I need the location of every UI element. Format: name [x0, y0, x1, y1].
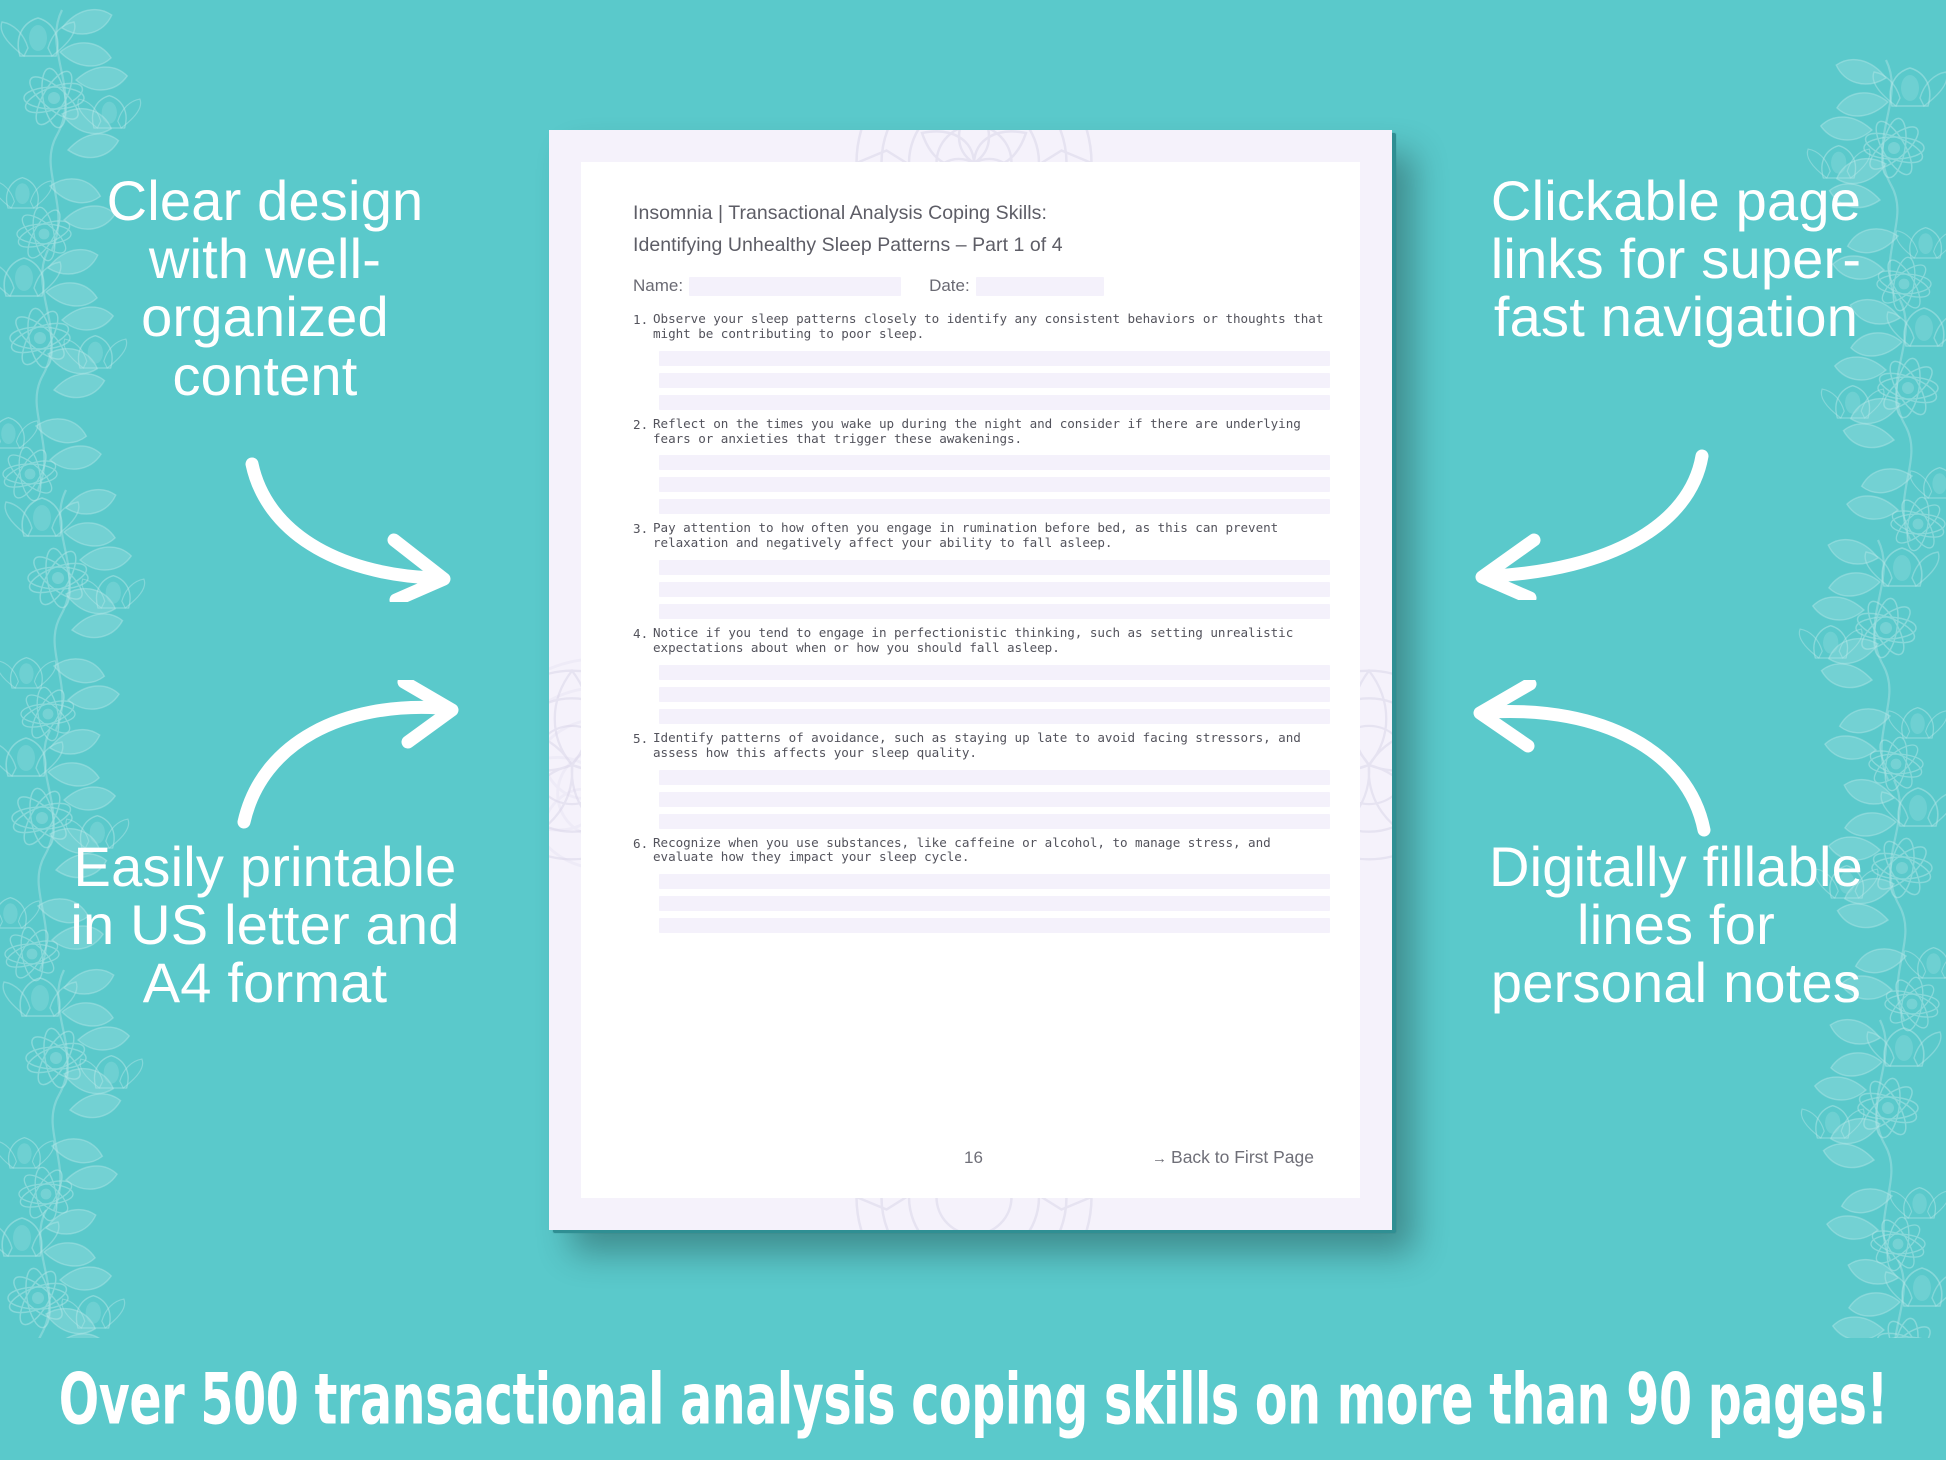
arrow-right-icon: →: [1152, 1150, 1167, 1167]
worksheet-items-list: 1.Observe your sleep patterns closely to…: [633, 312, 1330, 940]
name-date-row: Name: Date:: [633, 276, 1320, 296]
worksheet-item-answer-lines: [659, 770, 1330, 829]
date-label: Date:: [929, 276, 970, 296]
worksheet-item-answer-lines: [659, 874, 1330, 933]
worksheet-item-number: 3.: [633, 521, 653, 537]
curved-arrow-right-icon: [238, 452, 468, 602]
worksheet-item-number: 1.: [633, 312, 653, 328]
worksheet-item-answer-lines: [659, 665, 1330, 724]
fillable-line[interactable]: [659, 918, 1330, 933]
worksheet-footer: 16 →Back to First Page: [633, 1147, 1314, 1168]
worksheet-item: 5.Identify patterns of avoidance, such a…: [633, 731, 1330, 829]
banner-headline: Over 500 transactional analysis coping s…: [58, 1358, 1887, 1441]
worksheet-item-head: 6.Recognize when you use substances, lik…: [633, 836, 1330, 866]
feature-caption-printable: Easily printable in US letter and A4 for…: [60, 838, 470, 1013]
worksheet-item-head: 3.Pay attention to how often you engage …: [633, 521, 1330, 551]
worksheet-item-head: 5.Identify patterns of avoidance, such a…: [633, 731, 1330, 761]
worksheet-item-answer-lines: [659, 351, 1330, 410]
fillable-line[interactable]: [659, 709, 1330, 724]
curved-arrow-right-icon: [228, 680, 468, 830]
fillable-line[interactable]: [659, 455, 1330, 470]
worksheet-page: Insomnia | Transactional Analysis Coping…: [549, 130, 1392, 1230]
worksheet-item-head: 2.Reflect on the times you wake up durin…: [633, 417, 1330, 447]
worksheet-item: 3.Pay attention to how often you engage …: [633, 521, 1330, 619]
fillable-line[interactable]: [659, 373, 1330, 388]
fillable-line[interactable]: [659, 874, 1330, 889]
worksheet-item-text: Reflect on the times you wake up during …: [653, 417, 1330, 447]
worksheet-item: 4.Notice if you tend to engage in perfec…: [633, 626, 1330, 724]
worksheet-item-number: 6.: [633, 836, 653, 852]
fillable-line[interactable]: [659, 395, 1330, 410]
worksheet-item-text: Identify patterns of avoidance, such as …: [653, 731, 1330, 761]
curved-arrow-left-icon: [1468, 680, 1718, 840]
fillable-line[interactable]: [659, 351, 1330, 366]
page-number: 16: [964, 1148, 983, 1168]
worksheet-item-head: 4.Notice if you tend to engage in perfec…: [633, 626, 1330, 656]
fillable-line[interactable]: [659, 477, 1330, 492]
fillable-line[interactable]: [659, 604, 1330, 619]
fillable-line[interactable]: [659, 792, 1330, 807]
worksheet-item-number: 4.: [633, 626, 653, 642]
back-to-first-page-label: Back to First Page: [1171, 1147, 1314, 1167]
fillable-line[interactable]: [659, 560, 1330, 575]
worksheet-item: 6.Recognize when you use substances, lik…: [633, 836, 1330, 934]
worksheet-item-number: 2.: [633, 417, 653, 433]
worksheet-content: Insomnia | Transactional Analysis Coping…: [581, 162, 1360, 1198]
worksheet-item-text: Recognize when you use substances, like …: [653, 836, 1330, 866]
fillable-line[interactable]: [659, 896, 1330, 911]
worksheet-title-line-1: Insomnia | Transactional Analysis Coping…: [633, 198, 1320, 230]
feature-caption-fillable-lines: Digitally fillable lines for personal no…: [1466, 838, 1886, 1013]
fillable-line[interactable]: [659, 665, 1330, 680]
bottom-banner: Over 500 transactional analysis coping s…: [0, 1338, 1946, 1460]
promo-graphic: Clear design with well-organized content…: [0, 0, 1946, 1460]
fillable-line[interactable]: [659, 582, 1330, 597]
fillable-line[interactable]: [659, 687, 1330, 702]
worksheet-item: 1.Observe your sleep patterns closely to…: [633, 312, 1330, 410]
curved-arrow-left-icon: [1468, 440, 1718, 600]
date-input[interactable]: [976, 277, 1104, 296]
worksheet-item-head: 1.Observe your sleep patterns closely to…: [633, 312, 1330, 342]
name-label: Name:: [633, 276, 683, 296]
back-to-first-page-link[interactable]: →Back to First Page: [1152, 1147, 1314, 1168]
worksheet-item-text: Notice if you tend to engage in perfecti…: [653, 626, 1330, 656]
worksheet-item-answer-lines: [659, 455, 1330, 514]
feature-caption-clickable-links: Clickable page links for super-fast navi…: [1466, 172, 1886, 347]
feature-caption-clear-design: Clear design with well-organized content: [60, 172, 470, 405]
worksheet-item-text: Observe your sleep patterns closely to i…: [653, 312, 1330, 342]
worksheet-header: Insomnia | Transactional Analysis Coping…: [633, 198, 1320, 261]
fillable-line[interactable]: [659, 499, 1330, 514]
worksheet-item-text: Pay attention to how often you engage in…: [653, 521, 1330, 551]
name-input[interactable]: [689, 277, 901, 296]
worksheet-title-line-2: Identifying Unhealthy Sleep Patterns – P…: [633, 230, 1320, 262]
worksheet-item: 2.Reflect on the times you wake up durin…: [633, 417, 1330, 515]
fillable-line[interactable]: [659, 814, 1330, 829]
worksheet-item-number: 5.: [633, 731, 653, 747]
fillable-line[interactable]: [659, 770, 1330, 785]
worksheet-item-answer-lines: [659, 560, 1330, 619]
